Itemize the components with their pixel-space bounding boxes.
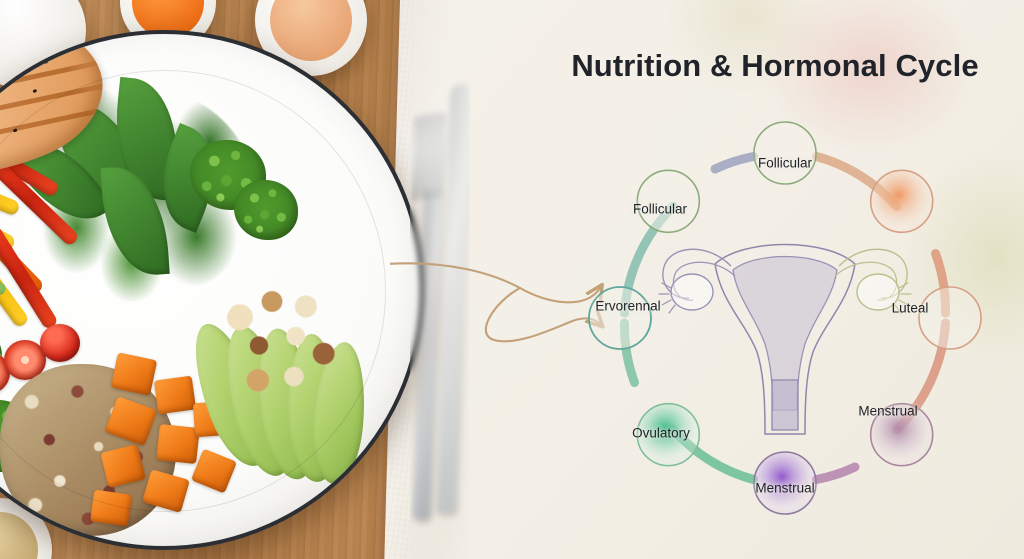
mixed-nuts (207, 265, 358, 421)
cream-sauce (270, 0, 353, 61)
sweet-potato-cube (191, 448, 237, 493)
node-luteal-upper[interactable] (871, 170, 933, 232)
spinach-leaf (108, 77, 186, 201)
node-label-luteal: Luteal (892, 301, 929, 316)
spinach-leaf (8, 123, 113, 240)
sweet-potato-cube (90, 490, 132, 527)
grilled-chicken-breast (0, 30, 122, 200)
orange-pepper-strip (0, 199, 45, 296)
cherry-tomato (40, 324, 80, 362)
red-pepper-strip (0, 152, 80, 248)
green-bean (0, 211, 8, 297)
node-luteal[interactable] (919, 287, 981, 349)
spinach-leaf (144, 123, 232, 233)
red-pepper-strip (0, 224, 59, 330)
yellow-pepper-strip (0, 218, 30, 329)
red-pepper-strip (0, 129, 60, 198)
sweet-potato-cube (154, 376, 196, 415)
grill-mark (0, 101, 122, 155)
sweet-potato-cube (100, 444, 146, 488)
grill-mark (0, 79, 122, 133)
cherry-tomato (4, 340, 46, 380)
node-follicular-top[interactable] (754, 122, 816, 184)
hormonal-cycle-ring (560, 110, 1010, 530)
node-label-ovulatory: Ovulatory (632, 426, 690, 441)
spinach-leaf (100, 164, 170, 278)
broccoli-floret (234, 180, 298, 240)
arc-follicular-left-to-top (715, 157, 754, 170)
node-label-follicular-left: Follicular (633, 202, 687, 217)
pepper-seasoning (0, 70, 5, 74)
node-label-menstrual-right: Menstrual (858, 404, 917, 419)
sweet-potato-cube (142, 469, 190, 513)
green-bean (0, 266, 7, 371)
spinach-greens (26, 86, 256, 301)
green-bean (0, 234, 1, 337)
sweet-potato-cube (105, 396, 157, 446)
sweet-potato-cube (193, 401, 233, 438)
node-label-follicular-top: Follicular (758, 156, 812, 171)
pepper-seasoning (44, 60, 49, 64)
pepper-seasoning (13, 128, 18, 132)
node-label-ervorennal: Ervorennal (595, 299, 660, 314)
broccoli-floret (0, 322, 2, 388)
spinach-leaf (52, 89, 155, 231)
cherry-tomato (0, 352, 10, 394)
pepper-seasoning (32, 89, 37, 93)
node-label-menstrual-bottom: Menstrual (755, 481, 814, 496)
yellow-pepper-strip (0, 183, 17, 252)
sweet-potato-cube (156, 424, 200, 464)
avocado-slice (180, 315, 282, 474)
broccoli-floret (190, 140, 266, 210)
node-ervorennal[interactable] (589, 287, 651, 349)
page-title: Nutrition & Hormonal Cycle (540, 48, 1010, 84)
quinoa-portion (0, 364, 176, 536)
yellow-pepper-strip (0, 162, 21, 216)
infographic-canvas: Nutrition & Hormonal Cycle (0, 0, 1024, 559)
arc-menstrual-right-to-bottom (817, 467, 856, 480)
sweet-potato-cube (111, 352, 158, 396)
avocado-slice (214, 320, 304, 482)
